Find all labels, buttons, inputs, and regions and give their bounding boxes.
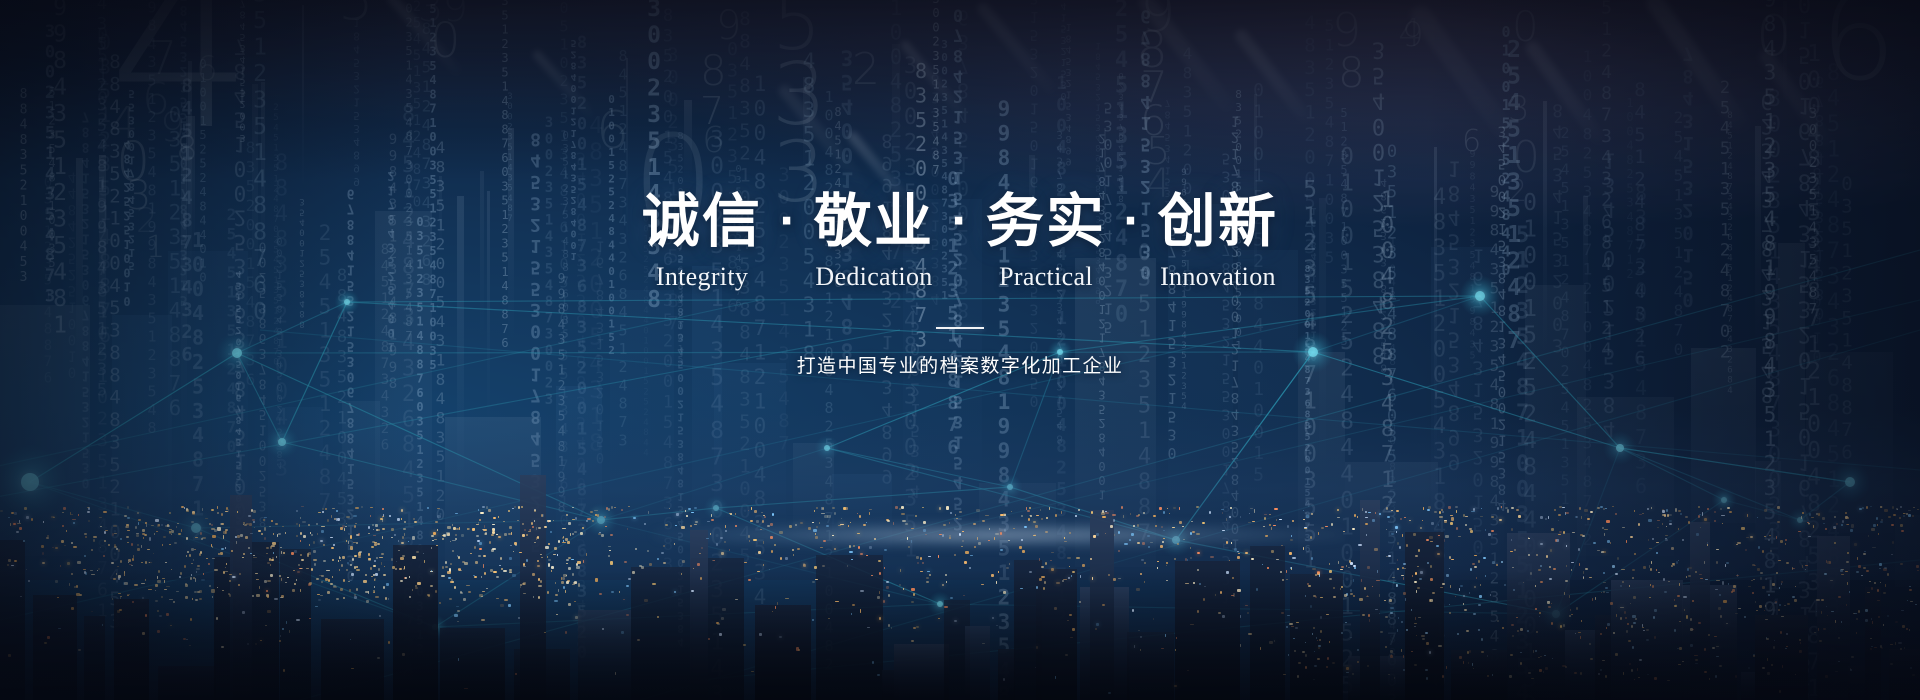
slogan-cn-integrity: 诚信 [642,192,763,251]
banner-content: 诚信 Integrity · 敬业 Dedication · 务实 Practi… [0,0,1920,700]
title-divider [936,327,984,329]
slogan-row: 诚信 Integrity · 敬业 Dedication · 务实 Practi… [642,192,1279,292]
slogan-separator-3: · [1123,193,1140,250]
slogan-en-practical: Practical [999,262,1093,292]
slogan-en-dedication: Dedication [815,262,932,292]
slogan-en-integrity: Integrity [656,262,748,292]
slogan-separator-1: · [779,193,796,250]
banner-tagline: 打造中国专业的档案数字化加工企业 [797,351,1124,378]
slogan-item-integrity: 诚信 Integrity [642,192,763,292]
slogan-item-practical: 务实 Practical [986,192,1107,292]
slogan-en-innovation: Innovation [1160,262,1276,292]
slogan-item-dedication: 敬业 Dedication [814,192,935,292]
slogan-cn-practical: 务实 [986,192,1107,251]
slogan-cn-dedication: 敬业 [814,192,935,251]
slogan-cn-innovation: 创新 [1158,192,1279,251]
slogan-item-innovation: 创新 Innovation [1158,192,1279,292]
hero-banner: 4539076984032166059837632987654984609036… [0,0,1920,700]
slogan-separator-2: · [951,193,968,250]
